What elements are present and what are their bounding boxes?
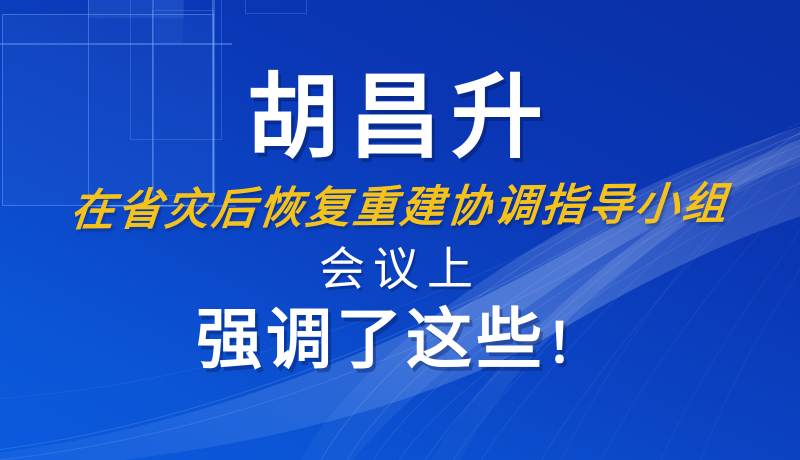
headline-emphasis-text: 强调了这些 (196, 302, 546, 376)
headline-context-second: 会议上 (319, 246, 481, 292)
headline-context-calligraphy: 在省灾后恢复重建协调指导小组 (69, 183, 732, 234)
headline-exclamation-mark: ！ (546, 314, 604, 374)
headline-emphasis-row: 强调了这些！ (196, 306, 604, 372)
headline-name: 胡昌升 (247, 72, 553, 164)
headline-text-block: 胡昌升 在省灾后恢复重建协调指导小组 会议上 强调了这些！ (0, 0, 800, 460)
headline-poster: 胡昌升 在省灾后恢复重建协调指导小组 会议上 强调了这些！ (0, 0, 800, 460)
